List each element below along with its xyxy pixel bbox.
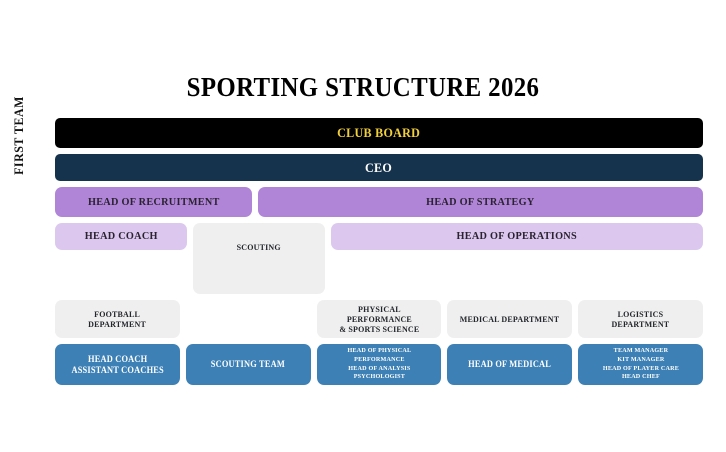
node-staff-scouting-team[interactable]: SCOUTING TEAM [186,344,311,385]
node-scouting-label: SCOUTING [237,242,281,252]
node-head-coach[interactable]: HEAD COACH [55,223,187,250]
node-department-logistics-label: LOGISTICS DEPARTMENT [588,309,693,329]
org-chart-page: SPORTING STRUCTURE 2026 FIRST TEAM CLUB … [0,0,726,452]
node-department-physical-performance-label: PHYSICAL PERFORMANCE & SPORTS SCIENCE [327,304,432,334]
node-head-of-operations[interactable]: HEAD OF OPERATIONS [331,223,703,250]
node-head-of-strategy-label: HEAD OF STRATEGY [426,196,534,209]
row-staff: HEAD COACH ASSISTANT COACHES SCOUTING TE… [55,344,703,385]
node-ceo[interactable]: CEO [55,154,703,181]
row-heads: HEAD COACH SCOUTING HEAD OF OPERATIONS [55,223,703,294]
node-department-medical[interactable]: MEDICAL DEPARTMENT [447,300,572,338]
page-title: SPORTING STRUCTURE 2026 [29,72,697,103]
node-scouting[interactable]: SCOUTING [193,223,325,294]
node-head-of-recruitment-label: HEAD OF RECRUITMENT [88,196,220,209]
node-department-football-label: FOOTBALL DEPARTMENT [88,309,146,329]
node-department-football[interactable]: FOOTBALL DEPARTMENT [55,300,180,338]
node-staff-scouting-team-label: SCOUTING TEAM [211,359,285,370]
row-ceo: CEO [55,154,703,181]
node-department-physical-performance[interactable]: PHYSICAL PERFORMANCE & SPORTS SCIENCE [317,300,442,338]
node-staff-physical-performance[interactable]: HEAD OF PHYSICAL PERFORMANCE HEAD OF ANA… [317,344,442,385]
node-department-logistics[interactable]: LOGISTICS DEPARTMENT [578,300,703,338]
node-staff-medical-label: HEAD OF MEDICAL [468,359,551,370]
node-staff-medical[interactable]: HEAD OF MEDICAL [447,344,572,385]
row-departments: FOOTBALL DEPARTMENT PHYSICAL PERFORMANCE… [55,300,703,338]
node-staff-logistics-label: TEAM MANAGER KIT MANAGER HEAD OF PLAYER … [602,347,678,383]
node-staff-coaching[interactable]: HEAD COACH ASSISTANT COACHES [55,344,180,385]
node-staff-logistics[interactable]: TEAM MANAGER KIT MANAGER HEAD OF PLAYER … [578,344,703,385]
node-head-of-strategy[interactable]: HEAD OF STRATEGY [258,187,703,217]
node-head-of-recruitment[interactable]: HEAD OF RECRUITMENT [55,187,252,217]
node-staff-coaching-label: HEAD COACH ASSISTANT COACHES [71,354,163,375]
org-chart: CLUB BOARD CEO HEAD OF RECRUITMENT HEAD … [55,118,703,391]
row-directors: HEAD OF RECRUITMENT HEAD OF STRATEGY [55,187,703,217]
node-club-board[interactable]: CLUB BOARD [55,118,703,148]
row-club-board: CLUB BOARD [55,118,703,148]
first-team-side-label: FIRST TEAM [10,76,28,196]
node-staff-physical-performance-label: HEAD OF PHYSICAL PERFORMANCE HEAD OF ANA… [327,347,432,383]
side-label-text: FIRST TEAM [10,97,28,176]
node-head-of-operations-label: HEAD OF OPERATIONS [457,230,577,243]
node-head-coach-label: HEAD COACH [84,230,157,243]
node-department-medical-label: MEDICAL DEPARTMENT [460,314,559,324]
node-club-board-label: CLUB BOARD [337,125,420,140]
node-ceo-label: CEO [365,160,392,175]
